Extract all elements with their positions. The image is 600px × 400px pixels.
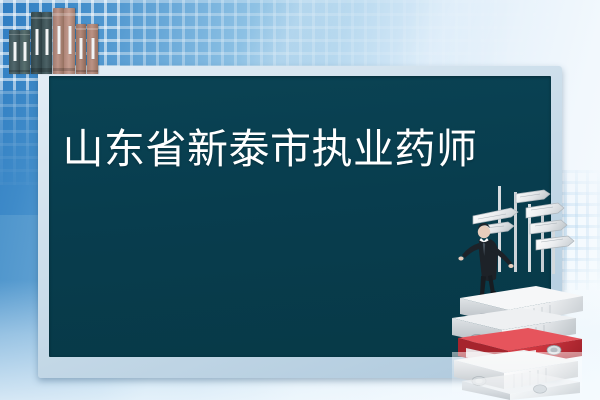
binder-stack [452,286,583,400]
binder-label-strip [80,38,83,59]
binder-foot [31,68,42,71]
binder-label-strip [13,42,16,60]
binder-foot [42,68,52,71]
binder-5 [53,8,64,74]
binder-foot [20,70,30,72]
binder-foot [87,70,98,73]
binder-label-strip [24,42,27,60]
binder-1 [9,30,20,74]
binder-label-strip [68,26,71,54]
binder-cap [42,17,52,19]
poster-canvas: 山东省新泰市执业药师 [0,0,600,400]
binder-7 [76,24,86,74]
binder-cap [31,17,42,19]
binder-label-strip [57,26,60,54]
binder-6 [64,8,75,74]
businessman-on-binder-stack-illustration [440,178,600,400]
binder-4 [42,12,52,74]
binder-2 [20,30,30,74]
binder-cap [76,28,86,30]
businessman-figure [458,223,513,297]
page-title: 山东省新泰市执业药师 [60,116,480,182]
binder-foot [53,68,64,71]
binder-foot [9,70,20,72]
binder-label-strip [91,38,94,59]
binder-3 [31,12,42,74]
top-left-binder-row [9,4,109,74]
binder-cap [9,34,20,36]
binder-cap [64,13,75,16]
binder-label-strip [46,29,49,55]
page-title-text: 山东省新泰市执业药师 [63,126,478,172]
binder-foot [76,70,86,73]
binder-foot [64,68,75,71]
binder-cap [87,28,98,30]
binder-cap [53,13,64,16]
binder-label-strip [35,29,38,55]
binder-cap [20,34,30,36]
binder-8 [87,24,98,74]
